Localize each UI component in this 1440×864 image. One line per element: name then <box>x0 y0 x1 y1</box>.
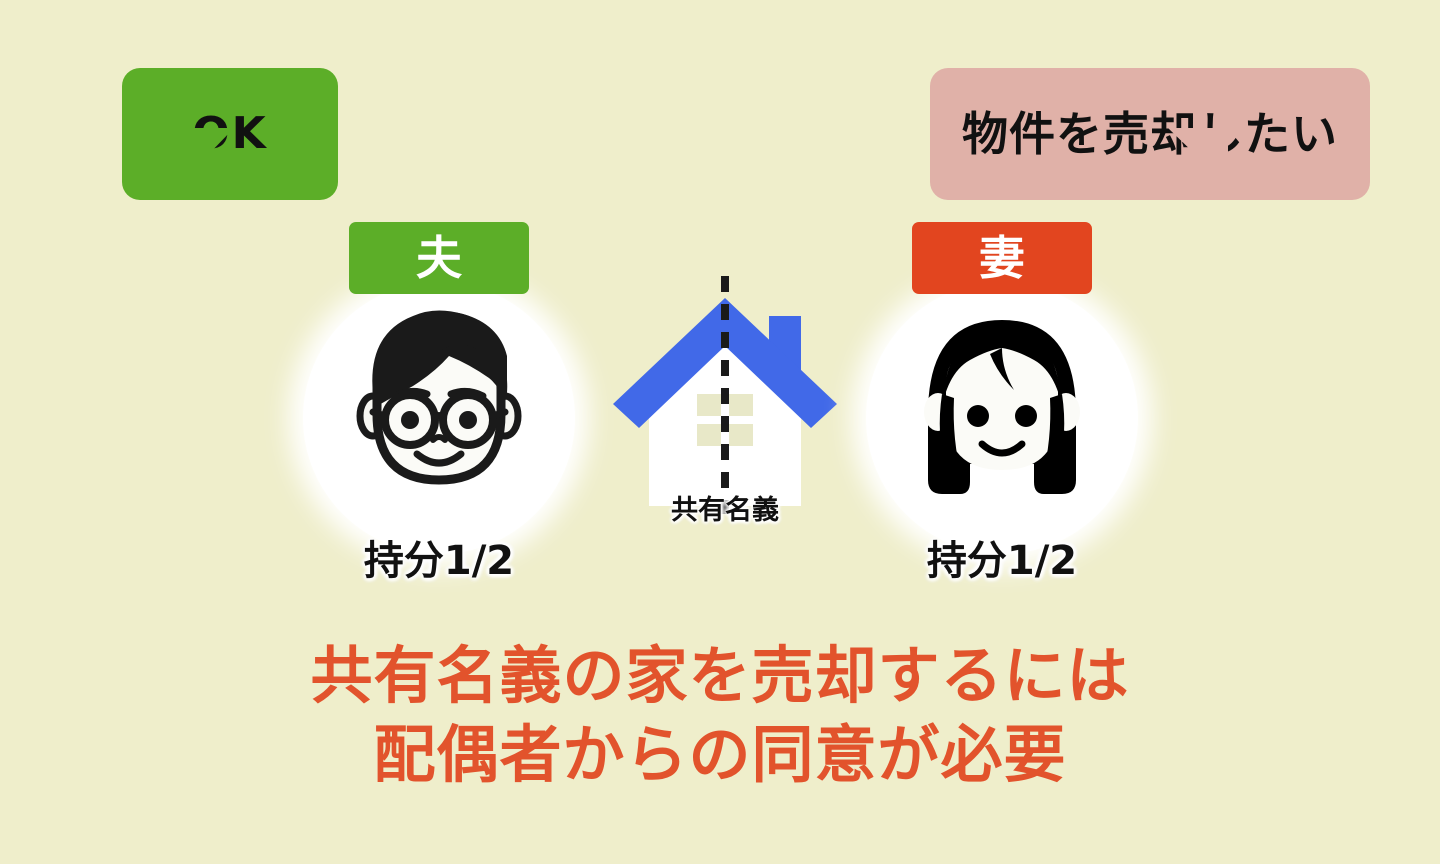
wife-speech-bubble: 物件を売却したい <box>930 68 1370 200</box>
husband-group: 夫 <box>289 222 589 586</box>
husband-share-label: 持分1/2 <box>289 528 589 586</box>
husband-role-label: 夫 <box>416 235 462 281</box>
woman-long-hair-icon <box>902 294 1102 524</box>
headline: 共有名義の家を売却するには 配偶者からの同意が必要 <box>0 636 1440 795</box>
headline-line-1: 共有名義の家を売却するには <box>0 636 1440 715</box>
wife-role-chip: 妻 <box>912 222 1092 294</box>
house-group: 共有名義 <box>600 268 850 527</box>
wife-share-label: 持分1/2 <box>852 528 1152 586</box>
house-icon <box>605 268 845 518</box>
husband-bubble-tail <box>176 128 234 188</box>
wife-role-label: 妻 <box>979 235 1025 281</box>
house-ownership-label: 共有名義 <box>600 488 850 527</box>
headline-line-2: 配偶者からの同意が必要 <box>0 715 1440 794</box>
man-with-glasses-icon <box>339 294 539 524</box>
wife-bubble-tail <box>1168 128 1228 186</box>
wife-speech-text: 物件を売却したい <box>962 111 1338 157</box>
husband-role-chip: 夫 <box>349 222 529 294</box>
wife-group: 妻 <box>852 222 1152 586</box>
infographic-canvas: OK 物件を売却したい 夫 <box>0 0 1440 864</box>
